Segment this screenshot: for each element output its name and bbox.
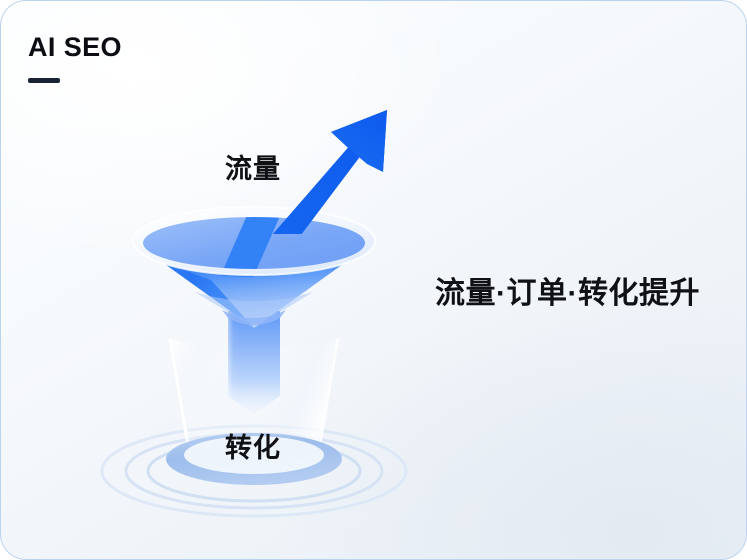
page-title: AI SEO (28, 34, 288, 61)
title-underline-rule (28, 78, 60, 83)
funnel-label-conversion: 转化 (225, 435, 281, 462)
brand-header: AI SEO (28, 34, 288, 83)
tagline-text: 流量·订单·转化提升 (435, 279, 700, 309)
slide-canvas: AI SEO (0, 0, 747, 560)
funnel-label-traffic: 流量 (225, 156, 281, 183)
